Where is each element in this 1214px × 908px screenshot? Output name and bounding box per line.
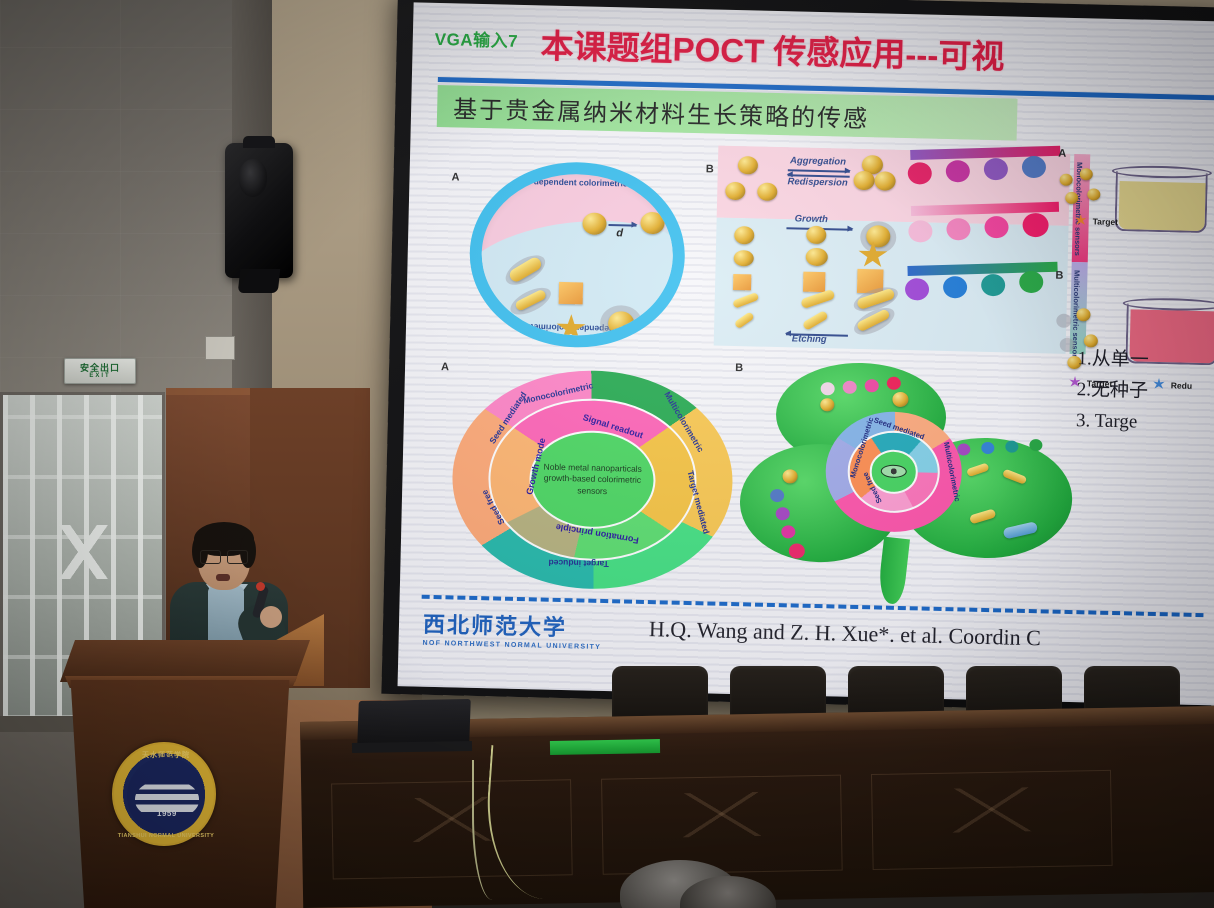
presentation-slide: VGA输入7 本课题组POCT 传感应用---可视 基于贵金属纳米材料生长策略的… <box>398 2 1214 705</box>
nanoparticle-sphere <box>1087 188 1100 200</box>
nanoparticle-sphere <box>1060 174 1073 186</box>
desk-chevron <box>651 791 792 837</box>
exit-sign-label-cn: 安全出口 <box>80 364 120 373</box>
speaker-cone <box>239 159 267 197</box>
brick-texture <box>0 0 232 420</box>
slide-title: 本课题组POCT 传感应用---可视 <box>540 19 1005 78</box>
wall-access-plate <box>205 336 235 360</box>
wheel-label-target-induced: Target induced <box>548 558 609 569</box>
lecture-hall-photo: 安全出口 EXIT VGA输入7 本课题组POCT 传感应用---可视 基于贵金… <box>0 0 1214 908</box>
university-name-cn: 西北师范大学 <box>423 607 602 643</box>
clover-stem <box>877 537 910 605</box>
legend-target-a: Target <box>1093 216 1119 227</box>
figure-panel-a1: A Distance-dependent colorimetric sensor… <box>446 141 701 352</box>
speaker-mount-top <box>243 136 275 148</box>
nanoparticle-sphere <box>1065 192 1078 204</box>
gold-nanocube <box>733 274 751 290</box>
laptop-keyboard <box>352 741 472 753</box>
list-item: 3. Targe <box>1076 406 1148 438</box>
presenter-mouth <box>216 574 230 581</box>
panel-right-a-label: A <box>1058 148 1066 160</box>
figure-panel-b1: B Aggregation Redispersion Growth <box>705 139 1090 363</box>
process-label-aggregation: Aggregation <box>790 155 846 167</box>
vga-input-label: VGA输入7 <box>435 25 519 52</box>
color-dot <box>1029 439 1042 451</box>
speaker-bracket <box>238 269 281 293</box>
panel-a1-label: A <box>451 171 459 183</box>
presenter-hand <box>260 606 282 628</box>
exit-sign: 安全出口 EXIT <box>64 358 136 384</box>
emblem-name-en: TIANSHUI NORMAL UNIVERSITY <box>114 833 218 839</box>
wall-speaker-icon <box>225 143 293 278</box>
podium-top-surface <box>60 640 310 682</box>
list-item: 2.无种子 <box>1076 375 1148 407</box>
clover-center-wheel: Monocolorimetric Seed mediated Multicolo… <box>824 410 963 533</box>
panel-b2-label: B <box>735 362 743 374</box>
sensor-classification-wheel: Noble metal nanoparticals growth-based c… <box>450 367 735 592</box>
emblem-inner-disc: 1959 <box>127 757 205 835</box>
figure-panel-a2: A Noble metal nanoparticals growth-based… <box>436 359 741 598</box>
emblem-year: 1959 <box>157 809 177 818</box>
process-label-redispersion: Redispersion <box>787 176 847 188</box>
sphere-halo <box>1060 338 1075 352</box>
list-item: 1.从单一 <box>1077 344 1149 376</box>
glasses-icon <box>200 550 248 562</box>
legend-reductant: Redu <box>1171 380 1192 390</box>
distance-symbol: d <box>616 227 623 239</box>
citation-text: H.Q. Wang and Z. H. Xue*. et al. Coordin… <box>649 616 1041 651</box>
university-logo: 西北师范大学 NOF NORTHWEST NORMAL UNIVERSITY <box>422 607 602 651</box>
projection-screen-bezel: VGA输入7 本课题组POCT 传感应用---可视 基于贵金属纳米材料生长策略的… <box>381 0 1214 713</box>
laptop-screen <box>357 699 471 747</box>
microphone-indicator <box>256 582 265 591</box>
panel-a2-label: A <box>441 361 449 373</box>
panel-b1-label: B <box>706 163 714 175</box>
beaker-liquid <box>1119 181 1206 231</box>
key-points-list: 1.从单一 2.无种子 3. Targe <box>1076 344 1149 438</box>
desk-chevron <box>921 787 1062 833</box>
process-label-growth: Growth <box>795 213 828 225</box>
podium-emblem: 天水师范学院 1959 TIANSHUI NORMAL UNIVERSITY <box>112 742 216 846</box>
reductant-marker-icon <box>1153 378 1165 390</box>
beaker-yellow <box>1114 171 1207 233</box>
process-label-etching: Etching <box>792 333 827 345</box>
gold-nanocube <box>803 272 825 293</box>
nanoparticle-sphere <box>1076 308 1090 321</box>
eye-icon <box>881 465 907 479</box>
podium: 天水师范学院 1959 TIANSHUI NORMAL UNIVERSITY <box>60 640 310 908</box>
target-marker-icon <box>1075 214 1087 226</box>
nanoparticle-sphere <box>1080 168 1093 180</box>
slide-subtitle: 基于贵金属纳米材料生长策略的传感 <box>453 89 870 134</box>
window-lattice-pattern <box>11 525 156 579</box>
sphere-halo <box>1056 314 1071 328</box>
arc-label-top: Distance-dependent colorimetric sensors <box>483 175 674 189</box>
wheel-core-text: Noble metal nanoparticals growth-based c… <box>531 461 654 498</box>
panel-right-b-label: B <box>1055 270 1063 282</box>
distance-morphology-circle: Distance-dependent colorimetric sensors … <box>468 160 687 350</box>
exit-sign-label-en: EXIT <box>89 373 110 379</box>
gold-nanocube <box>559 282 584 305</box>
figure-panel-b2: B <box>730 356 1086 614</box>
